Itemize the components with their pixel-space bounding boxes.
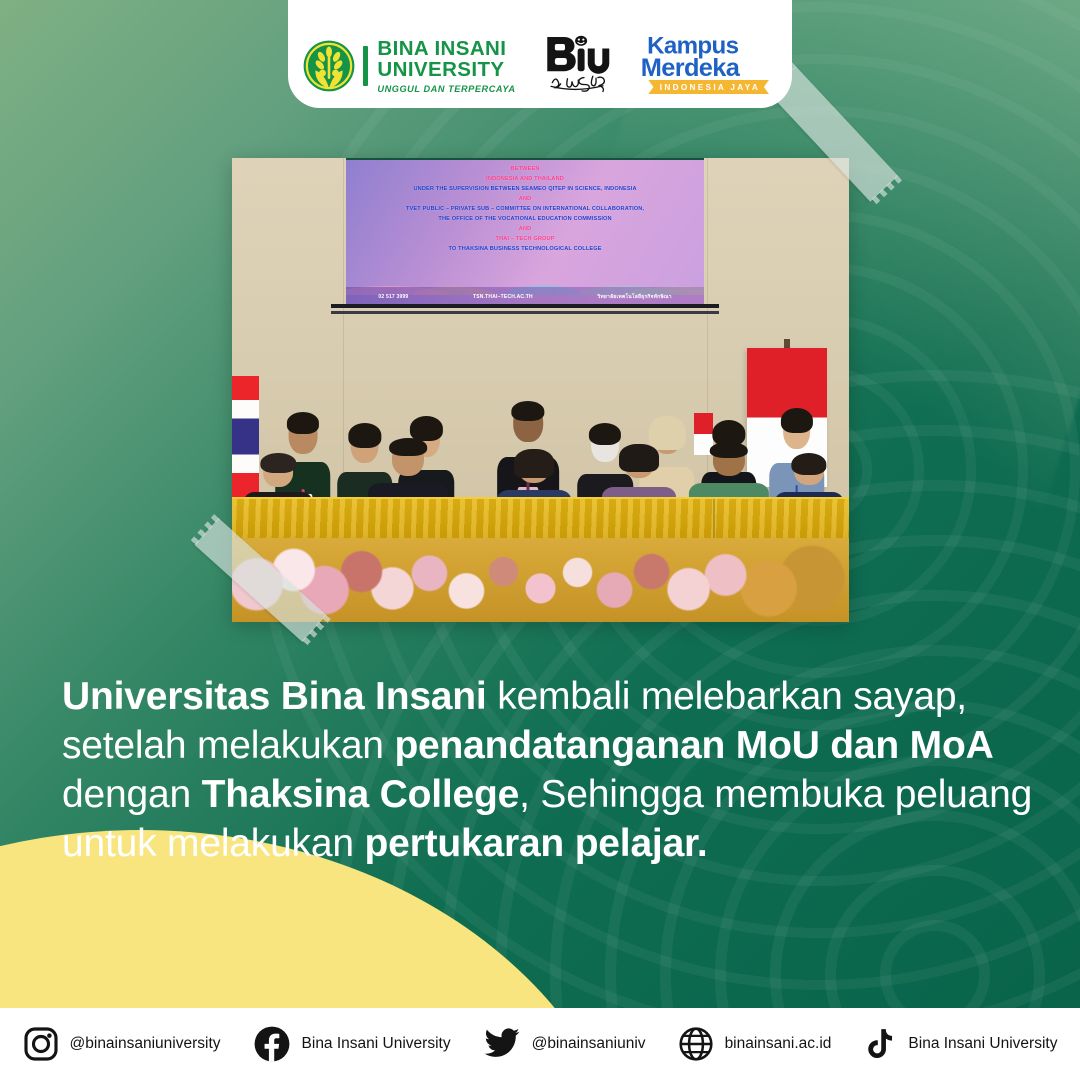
flower-arrangement (232, 538, 849, 622)
screen-bezel (331, 304, 720, 308)
facebook-icon[interactable] (253, 1025, 291, 1063)
seal-wheat-icon (302, 39, 356, 93)
social-instagram[interactable]: @binainsaniuniversity (23, 1026, 221, 1062)
kampus-merdeka-logo: Kampus Merdeka INDONESIA JAYA (638, 28, 778, 94)
svg-text:Merdeka: Merdeka (640, 54, 740, 82)
svg-text:INDONESIA JAYA: INDONESIA JAYA (659, 83, 759, 92)
social-website-label: binainsani.ac.id (725, 1035, 832, 1053)
event-photo: BETWEEN INDONESIA AND THAILAND UNDER THE… (232, 158, 849, 622)
twitter-icon[interactable] (483, 1025, 521, 1063)
logo-line-2: UNIVERSITY (377, 60, 515, 81)
social-instagram-label: @binainsaniuniversity (70, 1035, 221, 1053)
screen-facebook: วิทยาลัยเทคโนโลยีธุรกิจทักษิณา (597, 293, 671, 301)
social-twitter-label: @binainsaniuniv (532, 1035, 646, 1053)
social-facebook[interactable]: Bina Insani University (253, 1025, 451, 1063)
screen-phone: 02 517 3999 (378, 294, 408, 300)
social-twitter[interactable]: @binainsaniuniv (483, 1025, 646, 1063)
logo-line-1: BINA INSANI (377, 39, 515, 60)
social-website[interactable]: binainsani.ac.id (678, 1026, 832, 1062)
headline-text: Universitas Bina Insani kembali melebark… (62, 672, 1042, 869)
screen-text: BETWEEN INDONESIA AND THAILAND UNDER THE… (353, 165, 697, 255)
social-facebook-label: Bina Insani University (302, 1035, 451, 1053)
social-footer: @binainsaniuniversity Bina Insani Univer… (0, 1008, 1080, 1080)
instagram-icon[interactable] (23, 1026, 59, 1062)
projection-screen: BETWEEN INDONESIA AND THAILAND UNDER THE… (346, 158, 704, 306)
logo-divider (363, 46, 368, 86)
logo-tagline: UNGGUL DAN TERPERCAYA (377, 85, 515, 94)
headline-bold-3: Thaksina College (202, 773, 520, 816)
headline-bold-1: Universitas Bina Insani (62, 675, 487, 718)
headline-bold-2: penandatanganan MoU dan MoA (394, 724, 993, 767)
social-tiktok-label: Bina Insani University (908, 1035, 1057, 1053)
headline-bold-4: pertukaran pelajar. (364, 822, 707, 865)
globe-icon[interactable] (678, 1026, 714, 1062)
photo-image: BETWEEN INDONESIA AND THAILAND UNDER THE… (232, 158, 849, 622)
tiktok-icon[interactable] (863, 1027, 897, 1061)
screen-bezel-shadow (331, 311, 720, 314)
screen-top-bar (346, 158, 704, 160)
bina-insani-university-logo: BINA INSANI UNIVERSITY UNGGUL DAN TERPER… (302, 39, 515, 94)
poster-canvas: BINA INSANI UNIVERSITY UNGGUL DAN TERPER… (0, 0, 1080, 1080)
headline-plain-2: dengan (62, 773, 202, 816)
screen-website: TSN.THAI–TECH.AC.TH (473, 294, 533, 300)
header-logo-card: BINA INSANI UNIVERSITY UNGGUL DAN TERPER… (288, 0, 792, 108)
biu-smiley-icon (542, 32, 612, 94)
social-tiktok[interactable]: Bina Insani University (863, 1027, 1057, 1061)
